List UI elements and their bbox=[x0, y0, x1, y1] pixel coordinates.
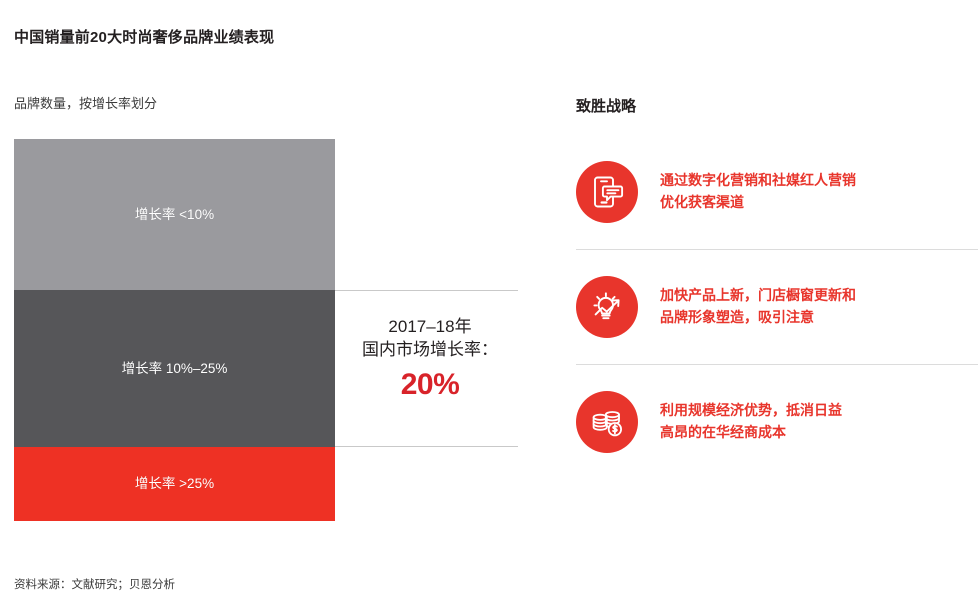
strategy-text-line2: 品牌形象塑造，吸引注意 bbox=[660, 309, 814, 325]
source-note: 资料来源：文献研究；贝恩分析 bbox=[14, 576, 175, 592]
growth-rate-callout: 2017–18年 国内市场增长率： 20% bbox=[340, 316, 520, 405]
strategy-item-scale-economies[interactable]: 利用规模经济优势，抵消日益 高昂的在华经商成本 bbox=[576, 365, 978, 479]
bar-segment-growth-10-to-25: 增长率 10%–25% bbox=[14, 290, 335, 447]
strategy-text: 通过数字化营销和社媒红人营销 优化获客渠道 bbox=[660, 170, 856, 213]
callout-description: 国内市场增长率： bbox=[340, 339, 520, 362]
mobile-chat-icon bbox=[576, 161, 638, 223]
strategy-text: 利用规模经济优势，抵消日益 高昂的在华经商成本 bbox=[660, 400, 842, 443]
strategy-text-line1: 利用规模经济优势，抵消日益 bbox=[660, 402, 842, 418]
leader-line-bottom bbox=[335, 446, 518, 447]
strategies-title: 致胜战略 bbox=[576, 95, 636, 116]
strategy-text-line1: 加快产品上新，门店橱窗更新和 bbox=[660, 287, 856, 303]
bar-segment-label: 增长率 10%–25% bbox=[122, 360, 228, 378]
strategy-text-line2: 优化获客渠道 bbox=[660, 194, 744, 210]
bar-segment-growth-under-10: 增长率 <10% bbox=[14, 139, 335, 290]
strategy-text: 加快产品上新，门店橱窗更新和 品牌形象塑造，吸引注意 bbox=[660, 285, 856, 328]
bar-segment-label: 增长率 <10% bbox=[135, 206, 214, 224]
page-title: 中国销量前20大时尚奢侈品牌业绩表现 bbox=[14, 26, 274, 47]
coins-dollar-icon bbox=[576, 391, 638, 453]
strategy-text-line1: 通过数字化营销和社媒红人营销 bbox=[660, 172, 856, 188]
strategy-list: 通过数字化营销和社媒红人营销 优化获客渠道 加快产品上新，门店橱窗更新和 品牌形… bbox=[576, 135, 978, 479]
bar-segment-label: 增长率 >25% bbox=[135, 475, 214, 493]
lightbulb-growth-icon bbox=[576, 276, 638, 338]
strategy-item-digital-marketing[interactable]: 通过数字化营销和社媒红人营销 优化获客渠道 bbox=[576, 135, 978, 249]
callout-period: 2017–18年 bbox=[340, 316, 520, 339]
leader-line-top bbox=[335, 290, 518, 291]
callout-value: 20% bbox=[340, 365, 520, 406]
chart-subtitle: 品牌数量，按增长率划分 bbox=[14, 93, 157, 112]
bar-segment-growth-over-25: 增长率 >25% bbox=[14, 447, 335, 521]
strategy-item-product-refresh[interactable]: 加快产品上新，门店橱窗更新和 品牌形象塑造，吸引注意 bbox=[576, 250, 978, 364]
stacked-bar-chart: 增长率 <10% 增长率 10%–25% 增长率 >25% bbox=[14, 139, 335, 521]
strategy-text-line2: 高昂的在华经商成本 bbox=[660, 424, 786, 440]
